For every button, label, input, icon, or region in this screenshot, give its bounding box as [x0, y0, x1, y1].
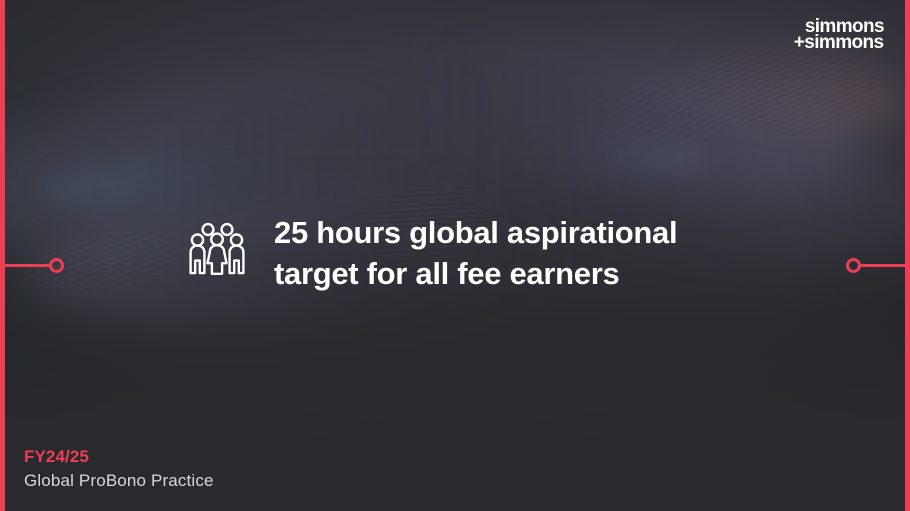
simmons-simmons-logo: simmons +simmons	[794, 19, 884, 51]
headline-block: 25 hours global aspirational target for …	[186, 212, 677, 294]
headline-line-2: target for all fee earners	[274, 253, 677, 294]
left-accent-connector	[5, 255, 64, 275]
logo-line-2: +simmons	[794, 35, 884, 51]
left-accent-line	[5, 264, 49, 267]
group-of-people-icon	[186, 220, 248, 287]
footer: FY24/25 Global ProBono Practice	[24, 446, 214, 493]
right-accent-ring-icon	[846, 258, 861, 273]
left-accent-ring-icon	[49, 258, 64, 273]
page-title: 25 hours global aspirational target for …	[274, 212, 677, 294]
right-red-border	[905, 0, 910, 511]
right-accent-connector	[846, 255, 905, 275]
headline-line-1: 25 hours global aspirational	[274, 212, 677, 253]
practice-name-label: Global ProBono Practice	[24, 469, 214, 493]
fiscal-year-label: FY24/25	[24, 446, 214, 468]
presentation-slide: simmons +simmons	[0, 0, 910, 511]
right-accent-line	[861, 264, 905, 267]
